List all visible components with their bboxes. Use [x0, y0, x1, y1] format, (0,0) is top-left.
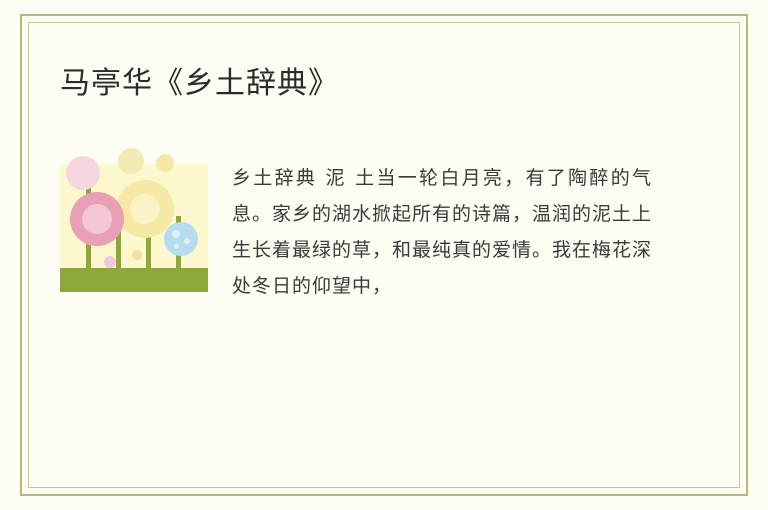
grass-band — [60, 268, 208, 294]
article-body: 乡土辞典 泥 土当一轮白月亮，有了陶醉的气息。家乡的湖水掀起所有的诗篇，温润的泥… — [232, 160, 652, 304]
flower-bud-icon — [104, 256, 116, 268]
flower-blossom-icon — [66, 156, 100, 190]
flower-dot-icon — [172, 230, 180, 238]
flowers-illustration — [60, 146, 208, 294]
flower-blossom-icon — [118, 148, 144, 174]
flower-dot-icon — [184, 238, 190, 244]
flower-bud-icon — [132, 250, 142, 260]
flower-center-icon — [82, 204, 112, 234]
flower-blossom-icon — [156, 154, 174, 172]
illustration-bottom-margin — [60, 292, 208, 294]
flower-blossom-icon — [164, 222, 198, 256]
page-title: 马亭华《乡土辞典》 — [60, 64, 339, 104]
article-card: 马亭华《乡土辞典》 乡土辞典 泥 土当一轮白月亮，有了陶醉的气息。家乡的湖水掀起… — [0, 0, 768, 510]
flower-dot-icon — [174, 244, 179, 249]
flower-center-icon — [130, 194, 160, 224]
